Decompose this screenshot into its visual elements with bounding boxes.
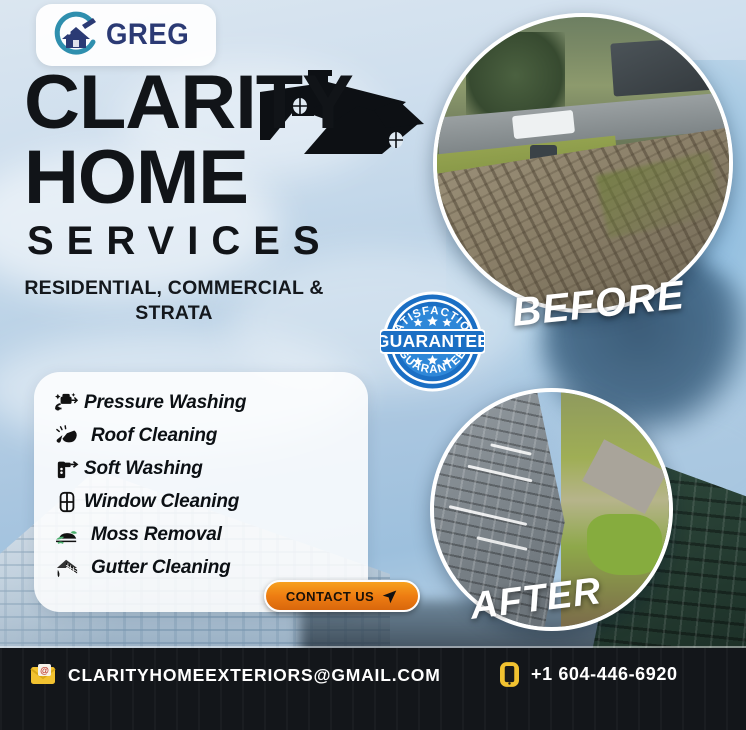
service-item-roof-cleaning[interactable]: Roof Cleaning [34,419,368,452]
mobile-phone-icon [500,662,519,687]
service-item-soft-washing[interactable]: Soft Washing [34,452,368,485]
brand-name: GREG [106,18,189,52]
gutter-mesh-icon [50,555,84,581]
brand-logo-card[interactable]: GREG [36,4,216,66]
tagline: RESIDENTIAL, COMMERCIAL & STRATA [24,276,324,325]
svg-text:@: @ [40,666,49,676]
house-swoosh-icon [52,11,100,59]
footer-email[interactable]: CLARITYHOMEEXTERIORS@GMAIL.COM [68,665,441,686]
headline-block: CLARITY HOME SERVICES RESIDENTIAL, COMME… [24,70,454,325]
contact-us-button[interactable]: CONTACT US [264,580,420,612]
services-card: Pressure Washing Roof Cleaning [34,372,368,612]
pressure-washer-icon [50,390,84,416]
spray-nozzle-icon [50,423,84,449]
before-photo [433,13,733,313]
paper-plane-icon [381,588,398,605]
envelope-at-icon: @ [30,664,56,686]
satisfaction-guarantee-badge: SATISFACTION GUARANTEE GUARANTEE [380,289,485,394]
soft-wash-sprayer-icon [50,456,84,482]
service-label: Moss Removal [91,524,222,546]
service-label: Window Cleaning [84,491,239,513]
badge-center-text: GUARANTEE [380,331,485,351]
service-item-pressure-washing[interactable]: Pressure Washing [34,386,368,419]
service-label: Soft Washing [84,458,203,480]
advertisement-poster: BEFORE AFTER GREG [0,0,746,730]
service-item-moss-removal[interactable]: Moss Removal [34,518,368,551]
moss-patch-icon [50,522,84,548]
footer-bar: @ CLARITYHOMEEXTERIORS@GMAIL.COM +1 604-… [0,648,746,730]
headline-services: SERVICES [27,219,454,264]
service-item-window-cleaning[interactable]: Window Cleaning [34,485,368,518]
contact-us-label: CONTACT US [286,589,374,604]
window-pane-icon [50,489,84,515]
footer-phone[interactable]: +1 604-446-6920 [531,664,678,685]
service-label: Pressure Washing [84,392,246,414]
service-label: Roof Cleaning [91,425,217,447]
service-label: Gutter Cleaning [91,557,231,579]
headline-clarity: CLARITY [24,70,463,135]
headline-home: HOME [24,143,454,213]
